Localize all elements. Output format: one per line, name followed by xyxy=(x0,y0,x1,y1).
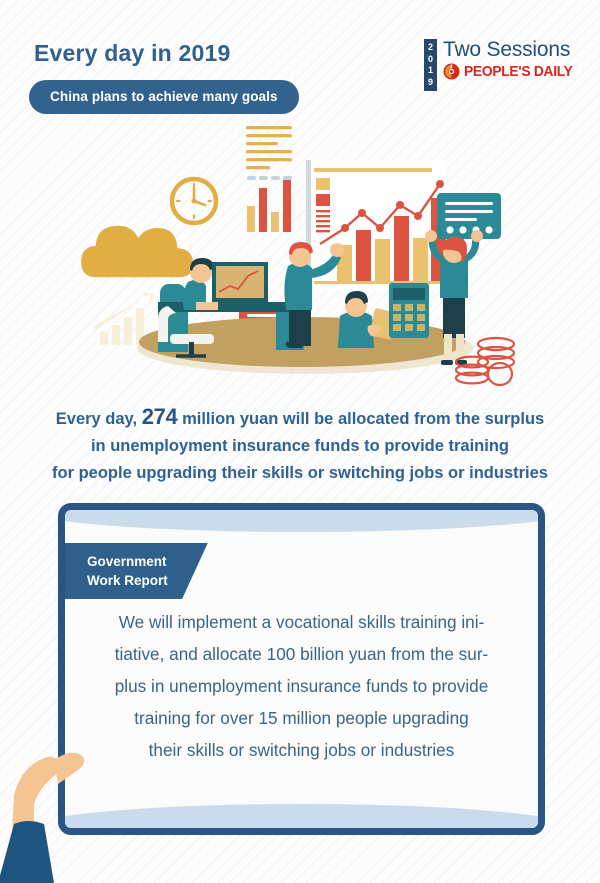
peoples-daily-logo: 2 0 1 9 Two Sessions PEOPLE'S DAILY xyxy=(424,38,582,91)
logo-two-sessions-text: Two Sessions xyxy=(443,38,582,61)
report-tag-banner: Government Work Report xyxy=(65,543,208,599)
quote-line-4: training for over 15 million people upgr… xyxy=(93,702,510,734)
page-title: Every day in 2019 xyxy=(34,40,230,67)
report-tag-line-2: Work Report xyxy=(87,571,168,590)
business-team-illustration xyxy=(0,110,600,395)
document-dots-icon xyxy=(247,176,292,180)
peoples-daily-icon xyxy=(443,63,460,80)
quote-line-1: We will implement a vocational skills tr… xyxy=(93,606,510,638)
quote-line-3: plus in unemployment insurance funds to … xyxy=(93,670,510,702)
calculator-icon xyxy=(389,283,429,338)
statement-segment-2: million yuan will be allocated from the … xyxy=(178,410,545,428)
logo-peoples-daily-text: PEOPLE'S DAILY xyxy=(464,63,573,80)
logo-year-digit-1: 1 xyxy=(428,65,433,77)
quote-line-5: their skills or switching jobs or indust… xyxy=(93,734,510,766)
page-background: Every day in 2019 China plans to achieve… xyxy=(0,0,600,883)
logo-year-digit-2: 2 xyxy=(428,42,433,54)
report-tag-line-1: Government xyxy=(87,552,168,571)
government-work-report-card: Government Work Report We will implement… xyxy=(58,503,545,835)
subtitle-pill: China plans to achieve many goals xyxy=(29,80,299,114)
statement-line-3: for people upgrading their skills or swi… xyxy=(52,464,548,482)
logo-year-digit-9: 9 xyxy=(428,77,433,89)
hand-holding-card xyxy=(0,752,116,883)
quote-body: We will implement a vocational skills tr… xyxy=(93,606,510,766)
statement-text: Every day, 274 million yuan will be allo… xyxy=(10,403,590,487)
quote-line-2: tiative, and allocate 100 billion yuan f… xyxy=(93,638,510,670)
small-bar-chart-icon xyxy=(247,180,291,232)
statement-segment-1: Every day, xyxy=(56,410,142,428)
logo-year-digit-0: 0 xyxy=(428,54,433,66)
card-bottom-sheen xyxy=(58,804,545,835)
logo-year-box: 2 0 1 9 xyxy=(424,39,437,91)
card-top-sheen xyxy=(58,503,545,532)
statement-line-2: in unemployment insurance funds to provi… xyxy=(91,437,509,455)
whiteboard-chart xyxy=(306,160,446,294)
clock-icon xyxy=(172,179,216,223)
statement-highlight-number: 274 xyxy=(142,404,178,429)
document-lines-icon xyxy=(246,126,292,169)
